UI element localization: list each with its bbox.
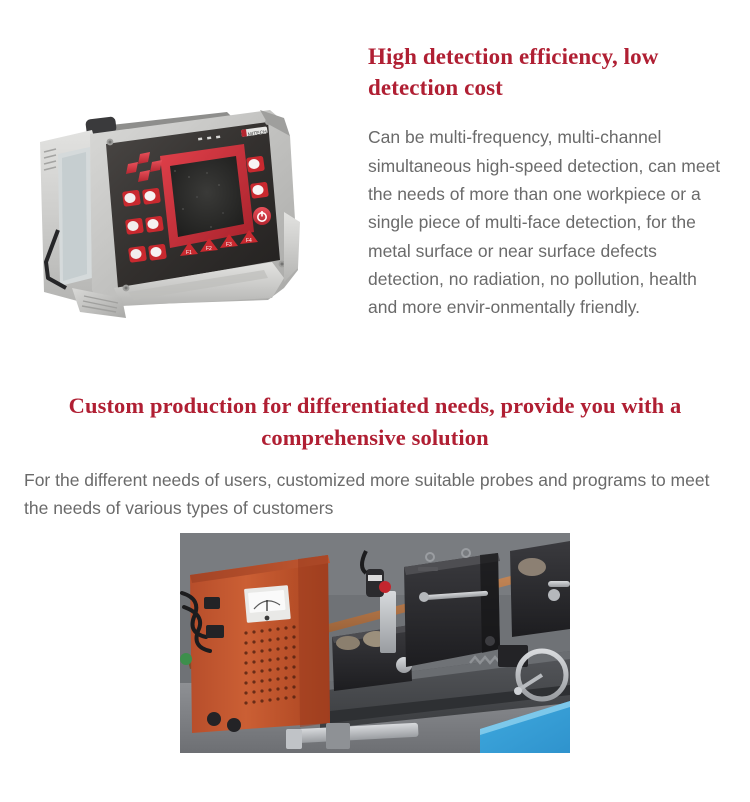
section-two-heading-block: Custom production for differentiated nee… — [0, 390, 750, 453]
module-bolt — [485, 636, 495, 646]
handle-knob — [419, 592, 429, 602]
warning-sticker — [379, 581, 391, 593]
section-one-body: Can be multi-frequency, multi-channel si… — [368, 123, 730, 321]
keypad-button-cap — [249, 159, 260, 169]
section-two-heading-line-1: Custom production for differentiated nee… — [69, 393, 616, 418]
device-side-inset — [62, 152, 87, 281]
function-key-f1-label: F1 — [186, 250, 192, 256]
section-one-heading: High detection efficiency, low detection… — [368, 42, 730, 103]
testing-line-illustration — [180, 533, 570, 753]
fixture-clamp — [326, 723, 350, 749]
fixture-end — [286, 729, 302, 749]
module-rod — [548, 581, 570, 587]
coil-module-center — [404, 549, 500, 667]
section-one-text-block: High detection efficiency, low detection… — [368, 42, 730, 322]
machine-foot — [207, 712, 221, 726]
orange-unit-side — [298, 555, 330, 727]
analog-gauge — [244, 585, 291, 623]
function-key-f2-label: F2 — [206, 246, 212, 252]
cable-connector — [206, 625, 224, 638]
coil-bobbin — [336, 636, 360, 650]
module-slot — [418, 567, 438, 571]
section-two-heading: Custom production for differentiated nee… — [22, 390, 728, 453]
sensor-label — [368, 575, 382, 581]
keypad-button-cap — [253, 185, 264, 195]
handwheel-grip — [514, 687, 522, 695]
flaw-detector-image: MITECH — [22, 92, 352, 352]
gauge-screw — [265, 616, 270, 621]
flaw-detector-illustration: MITECH — [22, 92, 352, 352]
feature-section-custom-production: Custom production for differentiated nee… — [0, 375, 750, 802]
coil-module-right — [510, 541, 570, 637]
keypad-button-cap — [125, 193, 136, 203]
cable-connector — [204, 597, 220, 609]
right-side-bumper — [284, 212, 300, 282]
testing-line-image — [180, 533, 570, 753]
coil-bobbin — [518, 558, 546, 576]
display-screen — [170, 156, 244, 237]
keypad-button-cap — [151, 247, 162, 257]
function-key-f4-label: F4 — [246, 238, 252, 244]
module-knob — [548, 589, 560, 601]
section-two-body: For the different needs of users, custom… — [0, 466, 750, 523]
feature-section-efficiency: MITECH — [0, 0, 750, 375]
green-fitting — [180, 653, 192, 665]
machine-foot — [227, 718, 241, 732]
keypad-button-cap — [128, 221, 139, 231]
keypad-button-cap — [145, 191, 156, 201]
function-key-f3-label: F3 — [226, 242, 232, 248]
keypad-button-cap — [131, 249, 142, 259]
keypad-button-cap — [148, 219, 159, 229]
